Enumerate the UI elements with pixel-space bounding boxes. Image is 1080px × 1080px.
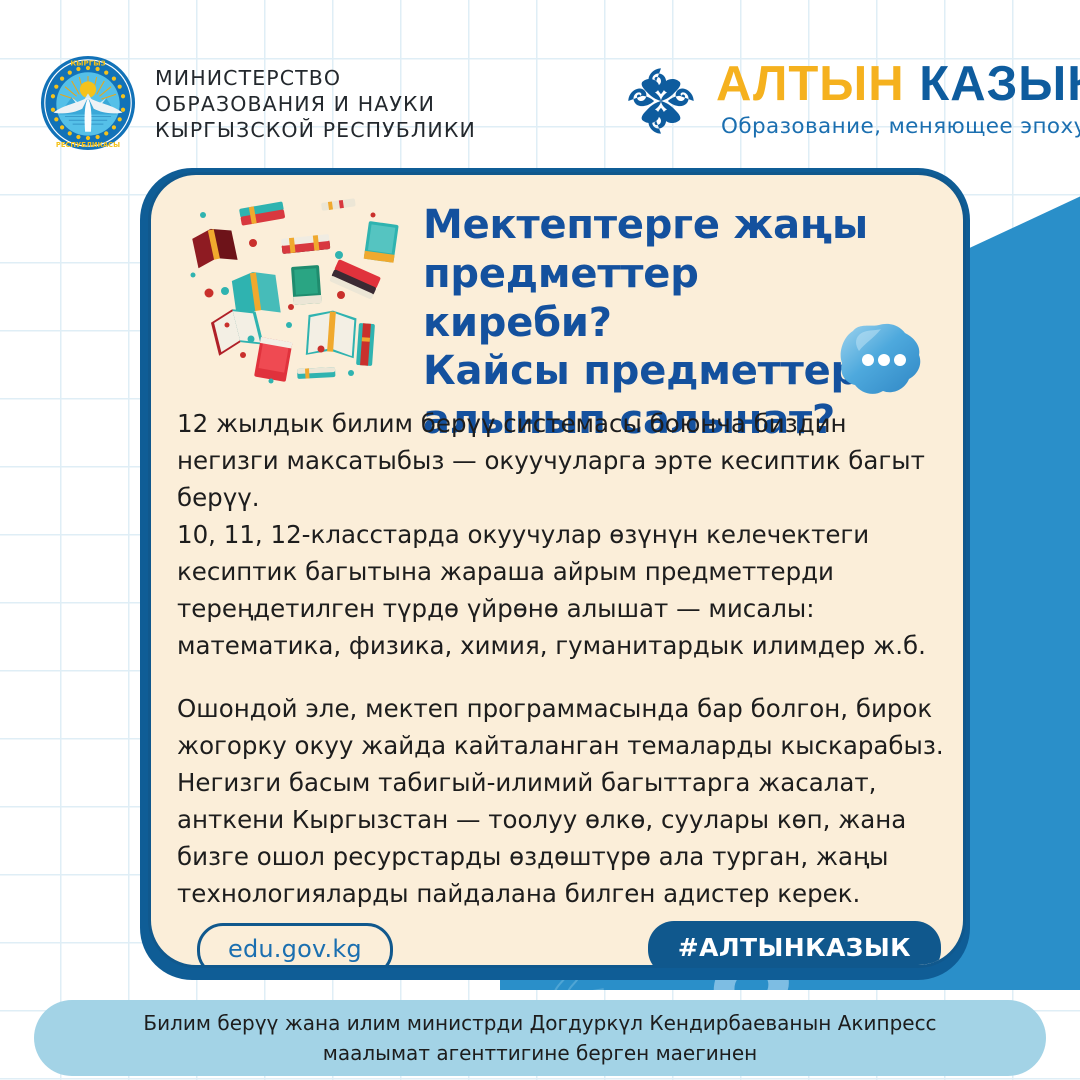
page-header: КЫРГЫЗ РЕСПУБЛИКАСЫ МИНИСТЕРСТВО ОБРАЗОВ… — [0, 38, 1080, 158]
caption-text: Билим берүү жана илим министрди Догдуркү… — [90, 1008, 990, 1068]
chat-bubble-icon — [833, 317, 933, 403]
book-dark-red-open — [191, 225, 238, 269]
emblem-bottom-text: РЕСПУБЛИКАСЫ — [56, 141, 120, 149]
brand-word-kazyk: КАЗЫК — [919, 57, 1080, 111]
title-line-2: предметтер киреби? — [423, 250, 883, 348]
kyrgyz-state-emblem-icon: КЫРГЫЗ РЕСПУБЛИКАСЫ — [40, 55, 136, 151]
paragraph-2: 10, 11, 12-класстарда окуучулар өзүнүн к… — [177, 516, 947, 664]
book-red-tilted — [329, 259, 381, 300]
title-line-3: Кайсы предметтер — [423, 347, 883, 396]
paragraph-1: 12 жылдык билим берүү системасы боюнча б… — [177, 405, 947, 516]
body-text: 12 жылдык билим берүү системасы боюнча б… — [177, 405, 947, 912]
book-teal-flat — [239, 201, 285, 225]
book-cream-small — [321, 198, 356, 211]
book-green-upright — [291, 265, 322, 305]
flying-books-illustration — [173, 197, 423, 412]
brand-wordmark: АЛТЫН КАЗЫК — [716, 56, 1080, 112]
book-flat-bottom — [297, 367, 335, 379]
title-line-1: Мектептерге жаңы — [423, 201, 883, 250]
emblem-top-text: КЫРГЫЗ — [70, 59, 105, 68]
paragraph-spacer — [177, 664, 947, 690]
ministry-line-1: МИНИСТЕРСТВО — [155, 65, 476, 91]
hashtag-pill[interactable]: #АЛТЫНКАЗЫК — [648, 921, 941, 968]
ministry-name: МИНИСТЕРСТВО ОБРАЗОВАНИЯ И НАУКИ КЫРГЫЗС… — [155, 65, 476, 143]
ministry-line-2: ОБРАЗОВАНИЯ И НАУКИ — [155, 91, 476, 117]
content-card: Мектептерге жаңы предметтер киреби? Кайс… — [148, 172, 966, 968]
book-open-pages-right — [306, 309, 357, 358]
ministry-line-3: КЫРГЫЗСКОЙ РЕСПУБЛИКИ — [155, 117, 476, 143]
altyn-kazyk-brand: АЛТЫН КАЗЫК Образование, меняющее эпоху! — [618, 48, 1054, 152]
caption-banner: Билим берүү жана илим министрди Догдуркү… — [34, 1000, 1046, 1076]
book-teal-spine — [356, 323, 375, 366]
books-svg — [173, 197, 423, 412]
kyrgyz-ornament-icon — [618, 58, 704, 144]
book-red-upright-bottom — [254, 337, 292, 382]
book-open-pages-left — [209, 304, 264, 356]
paragraph-3: Ошондой эле, мектеп программасында бар б… — [177, 690, 947, 912]
brand-tagline: Образование, меняющее эпоху! — [721, 114, 1080, 139]
book-red-flat — [281, 234, 330, 254]
brand-word-altyn: АЛТЫН — [716, 57, 905, 111]
website-pill[interactable]: edu.gov.kg — [197, 923, 393, 968]
book-teal-upright — [364, 221, 399, 263]
